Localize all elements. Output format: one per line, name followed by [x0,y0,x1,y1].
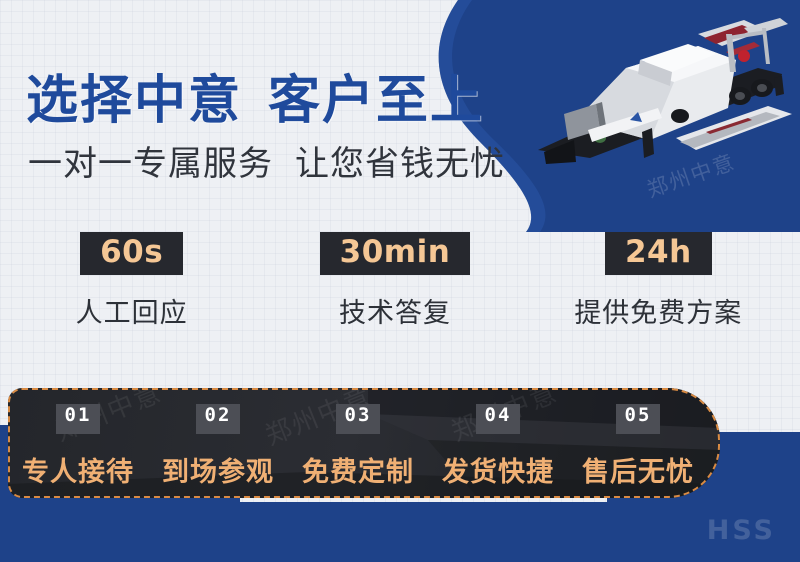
step-label: 售后无忧 [582,450,694,490]
step-label: 专人接待 [22,450,134,490]
step-number-cell: 03 [288,404,428,434]
step-number: 04 [476,404,521,434]
step-label-cell: 到场参观 [148,450,288,490]
step-label: 到场参观 [162,450,274,490]
feature-item: 30min 技术答复 [263,232,526,342]
step-number: 01 [56,404,101,434]
headline-part-1: 选择中意 [26,71,242,131]
step-number-row: 01 02 03 04 05 [8,404,708,434]
corner-watermark: HSS [707,515,776,546]
feature-badge: 60s [80,232,183,275]
step-number-cell: 04 [428,404,568,434]
step-label: 发货快捷 [442,450,554,490]
subtitle-part-1: 一对一专属服务 [28,144,273,184]
step-label-cell: 售后无忧 [568,450,708,490]
step-label-cell: 免费定制 [288,450,428,490]
feature-item: 24h 提供免费方案 [527,232,790,342]
headline-part-2: 客户至上 [268,71,484,131]
feature-label: 提供免费方案 [574,291,742,330]
step-label-cell: 专人接待 [8,450,148,490]
feature-label: 人工回应 [76,291,188,330]
step-label-cell: 发货快捷 [428,450,568,490]
mobile-crusher-illustration [530,12,798,188]
step-number-cell: 02 [148,404,288,434]
promo-banner: 郑州中意 选择中意客户至上 一对一专属服务让您省钱无忧 60s 人工回应 30m… [0,0,800,562]
step-number-cell: 01 [8,404,148,434]
page-title: 选择中意客户至上 [26,58,484,133]
feature-list: 60s 人工回应 30min 技术答复 24h 提供免费方案 [0,232,790,342]
step-label-row: 专人接待 到场参观 免费定制 发货快捷 售后无忧 [8,450,708,490]
feature-badge: 30min [320,232,471,275]
subtitle-part-2: 让您省钱无忧 [295,144,505,184]
step-number: 05 [616,404,661,434]
feature-label: 技术答复 [339,291,451,330]
feature-badge: 24h [605,232,712,275]
step-number-cell: 05 [568,404,708,434]
page-subtitle: 一对一专属服务让您省钱无忧 [28,136,505,185]
step-label: 免费定制 [302,450,414,490]
feature-item: 60s 人工回应 [0,232,263,342]
step-number: 02 [196,404,241,434]
step-number: 03 [336,404,381,434]
